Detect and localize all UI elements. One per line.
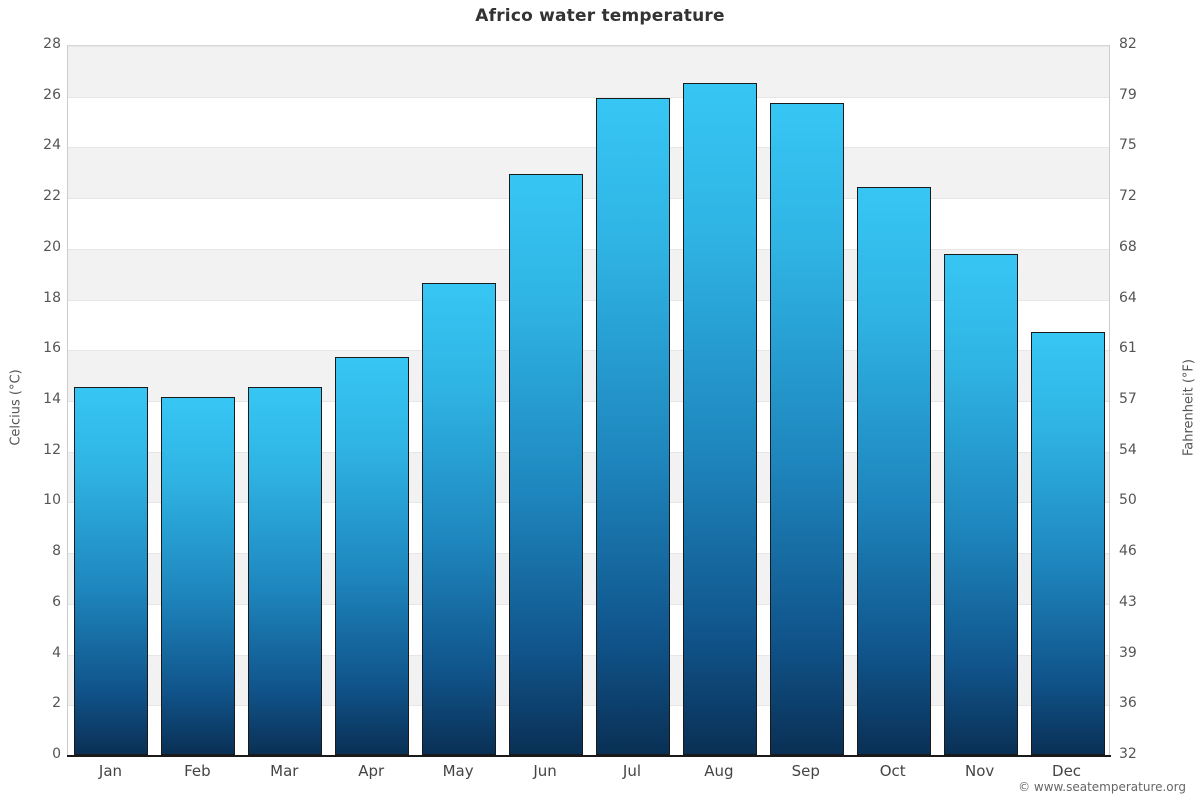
bar-may — [422, 283, 496, 755]
x-tick-jan: Jan — [67, 762, 154, 780]
x-tick-dec: Dec — [1023, 762, 1110, 780]
x-tick-jun: Jun — [502, 762, 589, 780]
bar-apr — [335, 357, 409, 755]
y-tick-fahrenheit-46: 46 — [1119, 544, 1163, 558]
x-tick-may: May — [415, 762, 502, 780]
x-tick-apr: Apr — [328, 762, 415, 780]
bar-dec — [1031, 332, 1105, 755]
x-axis-line — [67, 755, 1111, 757]
bar-oct — [857, 187, 931, 755]
y-tick-celsius-20: 20 — [21, 240, 61, 254]
y-tick-celsius-4: 4 — [21, 646, 61, 660]
y-tick-fahrenheit-82: 82 — [1119, 37, 1163, 51]
bar-feb — [161, 397, 235, 755]
bar-mar — [248, 387, 322, 755]
y-tick-celsius-22: 22 — [21, 189, 61, 203]
chart-plot-area — [67, 45, 1110, 755]
x-tick-jul: Jul — [589, 762, 676, 780]
bar-jul — [596, 98, 670, 755]
x-tick-aug: Aug — [675, 762, 762, 780]
y-tick-fahrenheit-64: 64 — [1119, 291, 1163, 305]
bar-aug — [683, 83, 757, 755]
x-tick-nov: Nov — [936, 762, 1023, 780]
bar-jan — [74, 387, 148, 755]
bar-nov — [944, 254, 1018, 755]
y-tick-celsius-18: 18 — [21, 291, 61, 305]
x-tick-oct: Oct — [849, 762, 936, 780]
y-tick-fahrenheit-39: 39 — [1119, 646, 1163, 660]
y-tick-fahrenheit-36: 36 — [1119, 696, 1163, 710]
y-tick-celsius-16: 16 — [21, 341, 61, 355]
bar-jun — [509, 174, 583, 755]
y-tick-celsius-24: 24 — [21, 138, 61, 152]
y-tick-fahrenheit-68: 68 — [1119, 240, 1163, 254]
page-title: Africo water temperature — [0, 6, 1200, 26]
y-tick-fahrenheit-61: 61 — [1119, 341, 1163, 355]
y-tick-celsius-14: 14 — [21, 392, 61, 406]
copyright-credit: © www.seatemperature.org — [1018, 780, 1186, 794]
y-tick-celsius-12: 12 — [21, 443, 61, 457]
bar-sep — [770, 103, 844, 755]
y-tick-celsius-0: 0 — [21, 747, 61, 761]
y-tick-fahrenheit-54: 54 — [1119, 443, 1163, 457]
x-tick-mar: Mar — [241, 762, 328, 780]
y-tick-celsius-8: 8 — [21, 544, 61, 558]
y-tick-celsius-6: 6 — [21, 595, 61, 609]
y-tick-fahrenheit-50: 50 — [1119, 493, 1163, 507]
y-tick-fahrenheit-57: 57 — [1119, 392, 1163, 406]
y-tick-celsius-28: 28 — [21, 37, 61, 51]
y-tick-fahrenheit-75: 75 — [1119, 138, 1163, 152]
y-tick-fahrenheit-43: 43 — [1119, 595, 1163, 609]
bar-series — [68, 46, 1109, 755]
y-tick-celsius-2: 2 — [21, 696, 61, 710]
x-tick-feb: Feb — [154, 762, 241, 780]
y-tick-celsius-10: 10 — [21, 493, 61, 507]
x-tick-sep: Sep — [762, 762, 849, 780]
y-tick-fahrenheit-32: 32 — [1119, 747, 1163, 761]
y-tick-fahrenheit-72: 72 — [1119, 189, 1163, 203]
y-tick-fahrenheit-79: 79 — [1119, 88, 1163, 102]
y-tick-celsius-26: 26 — [21, 88, 61, 102]
y-axis-title-fahrenheit: Fahrenheit (°F) — [1182, 343, 1197, 473]
y-axis-title-celsius: Celcius (°C) — [9, 348, 24, 468]
